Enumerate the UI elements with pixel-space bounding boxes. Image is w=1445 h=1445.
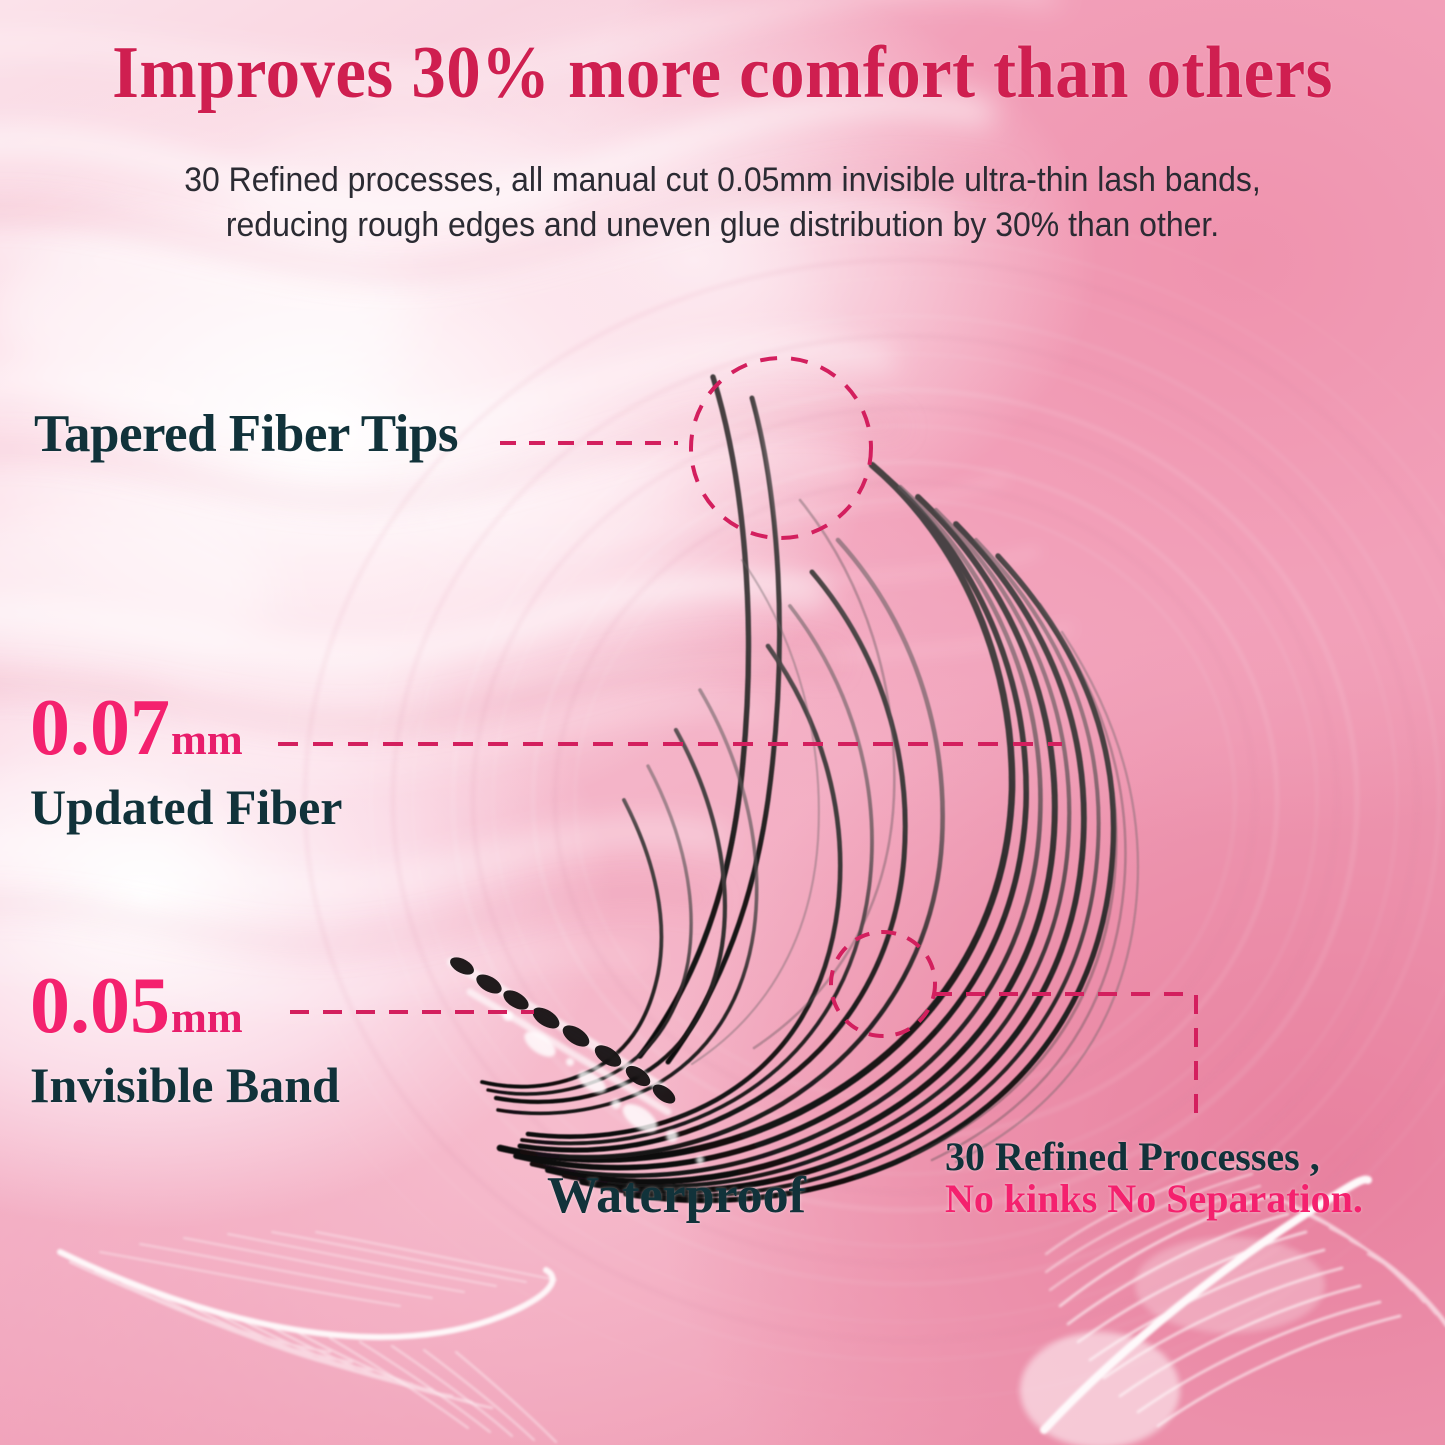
infographic-canvas: Improves 30% more comfort than others 30… [0,0,1445,1445]
callout-fiber-sublabel: Updated Fiber [30,782,343,832]
callout-refined-processes: 30 Refined Processes , No kinks No Separ… [945,1136,1363,1221]
callout-label-tapered-fiber-tips: Tapered Fiber Tips [34,404,458,464]
callout-refined-line-2: No kinks No Separation. [945,1178,1363,1220]
callout-label-waterproof: Waterproof [547,1166,806,1225]
callout-band-measure: 0.05mm [30,966,340,1046]
dashed-circle-icon [831,932,935,1036]
callout-fiber-unit: mm [171,717,243,764]
callout-band-unit: mm [171,995,243,1042]
dashed-circle-icon [691,358,871,538]
callout-fiber-measure: 0.07mm [30,688,343,768]
callout-band-sublabel: Invisible Band [30,1060,340,1110]
callout-refined-line-1: 30 Refined Processes , [945,1136,1363,1178]
subtitle-line-2: reducing rough edges and uneven glue dis… [100,203,1346,248]
callout-band-value: 0.05 [30,962,170,1050]
callout-updated-fiber: 0.07mm Updated Fiber [30,688,343,832]
subtitle-line-1: 30 Refined processes, all manual cut 0.0… [100,158,1346,203]
page-title: Improves 30% more comfort than others [51,36,1395,110]
subtitle: 30 Refined processes, all manual cut 0.0… [100,158,1346,248]
dashed-leader-line-icon [933,994,1196,1126]
callout-fiber-value: 0.07 [30,684,170,772]
callout-invisible-band: 0.05mm Invisible Band [30,966,340,1110]
